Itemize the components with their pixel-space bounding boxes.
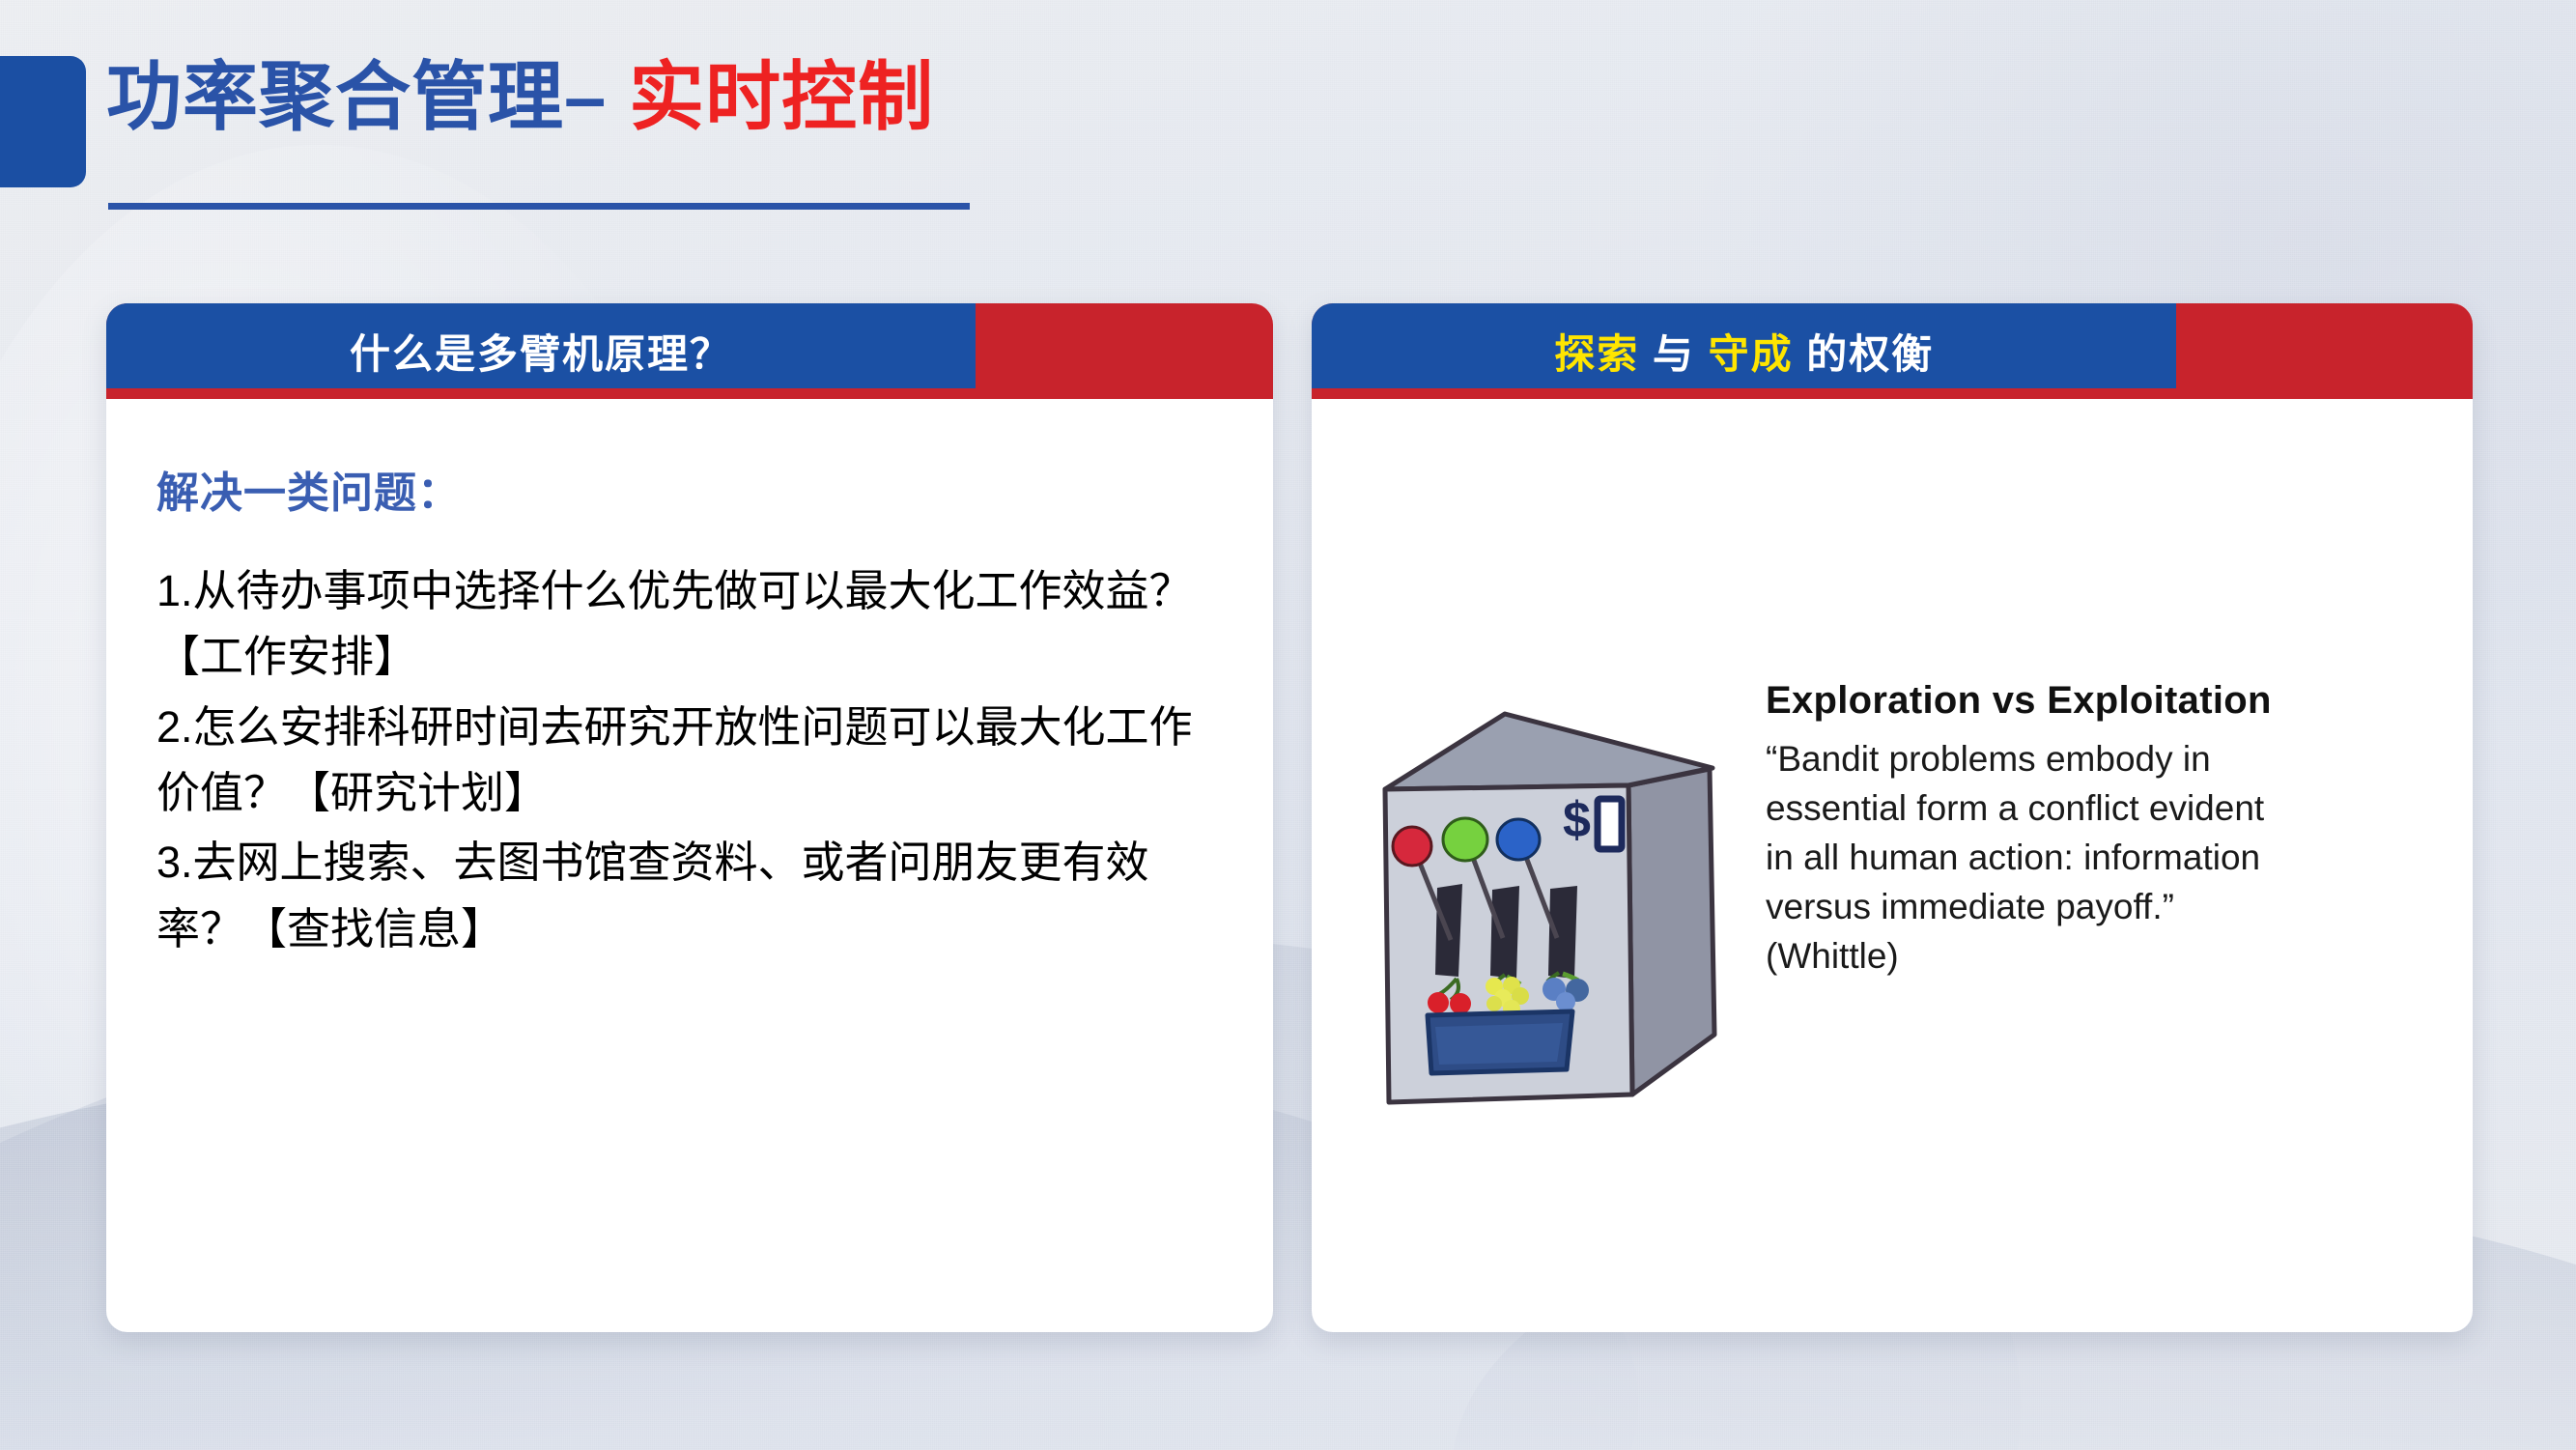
card-header-right-title-part2: 与	[1653, 331, 1695, 377]
page-title-main: 功率聚合管理	[106, 54, 564, 139]
card-exploration-exploitation: 探索 与 守成 的权衡 $	[1312, 303, 2473, 1332]
list-item: 1.从待办事项中选择什么优先做可以最大化工作效益？【工作安排】	[156, 558, 1215, 691]
lever-knob-red-icon	[1393, 827, 1431, 866]
page-title: 功率聚合管理– 实时控制	[106, 56, 934, 137]
title-accent-bar	[0, 56, 86, 187]
list-item: 2.怎么安排科研时间去研究开放性问题可以最大化工作价值？【研究计划】	[156, 695, 1215, 827]
left-card-content: 解决一类问题： 1.从待办事项中选择什么优先做可以最大化工作效益？【工作安排】 …	[106, 399, 1273, 962]
list-item: 3.去网上搜索、去图书馆查资料、或者问朋友更有效率？【查找信息】	[156, 830, 1215, 962]
exploration-quote-block: Exploration vs Exploitation “Bandit prob…	[1766, 679, 2422, 981]
card-header-right-title-part3: 守成	[1709, 331, 1794, 377]
left-card-lead: 解决一类问题：	[156, 469, 1215, 520]
lever-knob-blue-icon	[1497, 819, 1540, 860]
page-title-accent: 实时控制	[629, 54, 934, 139]
page-title-dash: –	[564, 54, 607, 139]
left-card-item-list: 1.从待办事项中选择什么优先做可以最大化工作效益？【工作安排】 2.怎么安排科研…	[156, 558, 1215, 962]
quote-line: versus immediate payoff.”	[1766, 882, 2422, 931]
right-card-content: $	[1312, 399, 2473, 1332]
title-underline-rule	[108, 203, 970, 210]
slide-canvas: 功率聚合管理– 实时控制 什么是多臂机原理？ 解决一类问题： 1.从待办事项中选…	[0, 0, 2576, 1450]
card-header-right: 探索 与 守成 的权衡	[1312, 303, 2473, 399]
card-header-left-blue-panel: 什么是多臂机原理？	[106, 303, 976, 399]
quote-heading: Exploration vs Exploitation	[1766, 679, 2422, 723]
slot-machine-icon: $	[1343, 697, 1758, 1112]
card-header-right-title-part4: 的权衡	[1806, 331, 1934, 377]
card-header-left: 什么是多臂机原理？	[106, 303, 1273, 399]
dollar-sign-icon: $	[1563, 792, 1591, 848]
lever-knob-green-icon	[1443, 818, 1487, 861]
quote-line: (Whittle)	[1766, 931, 2422, 981]
card-header-right-blue-panel: 探索 与 守成 的权衡	[1312, 303, 2176, 399]
quote-line: “Bandit problems embody in	[1766, 734, 2422, 783]
card-header-left-title: 什么是多臂机原理？	[350, 322, 732, 381]
card-header-right-title: 探索 与 守成 的权衡	[1554, 322, 1934, 381]
card-header-left-underline	[106, 388, 1273, 399]
card-header-right-underline	[1312, 388, 2473, 399]
card-header-right-title-part1: 探索	[1554, 331, 1639, 377]
card-body-left: 解决一类问题： 1.从待办事项中选择什么优先做可以最大化工作效益？【工作安排】 …	[106, 399, 1273, 1332]
bill-slot-icon	[1598, 799, 1622, 849]
quote-body: “Bandit problems embody in essential for…	[1766, 734, 2422, 981]
slot-machine-svg: $	[1343, 697, 1758, 1112]
quote-line: in all human action: information	[1766, 833, 2422, 882]
quote-line: essential form a conflict evident	[1766, 783, 2422, 833]
card-body-right: $	[1312, 399, 2473, 1332]
card-multi-armed-bandit: 什么是多臂机原理？ 解决一类问题： 1.从待办事项中选择什么优先做可以最大化工作…	[106, 303, 1273, 1332]
